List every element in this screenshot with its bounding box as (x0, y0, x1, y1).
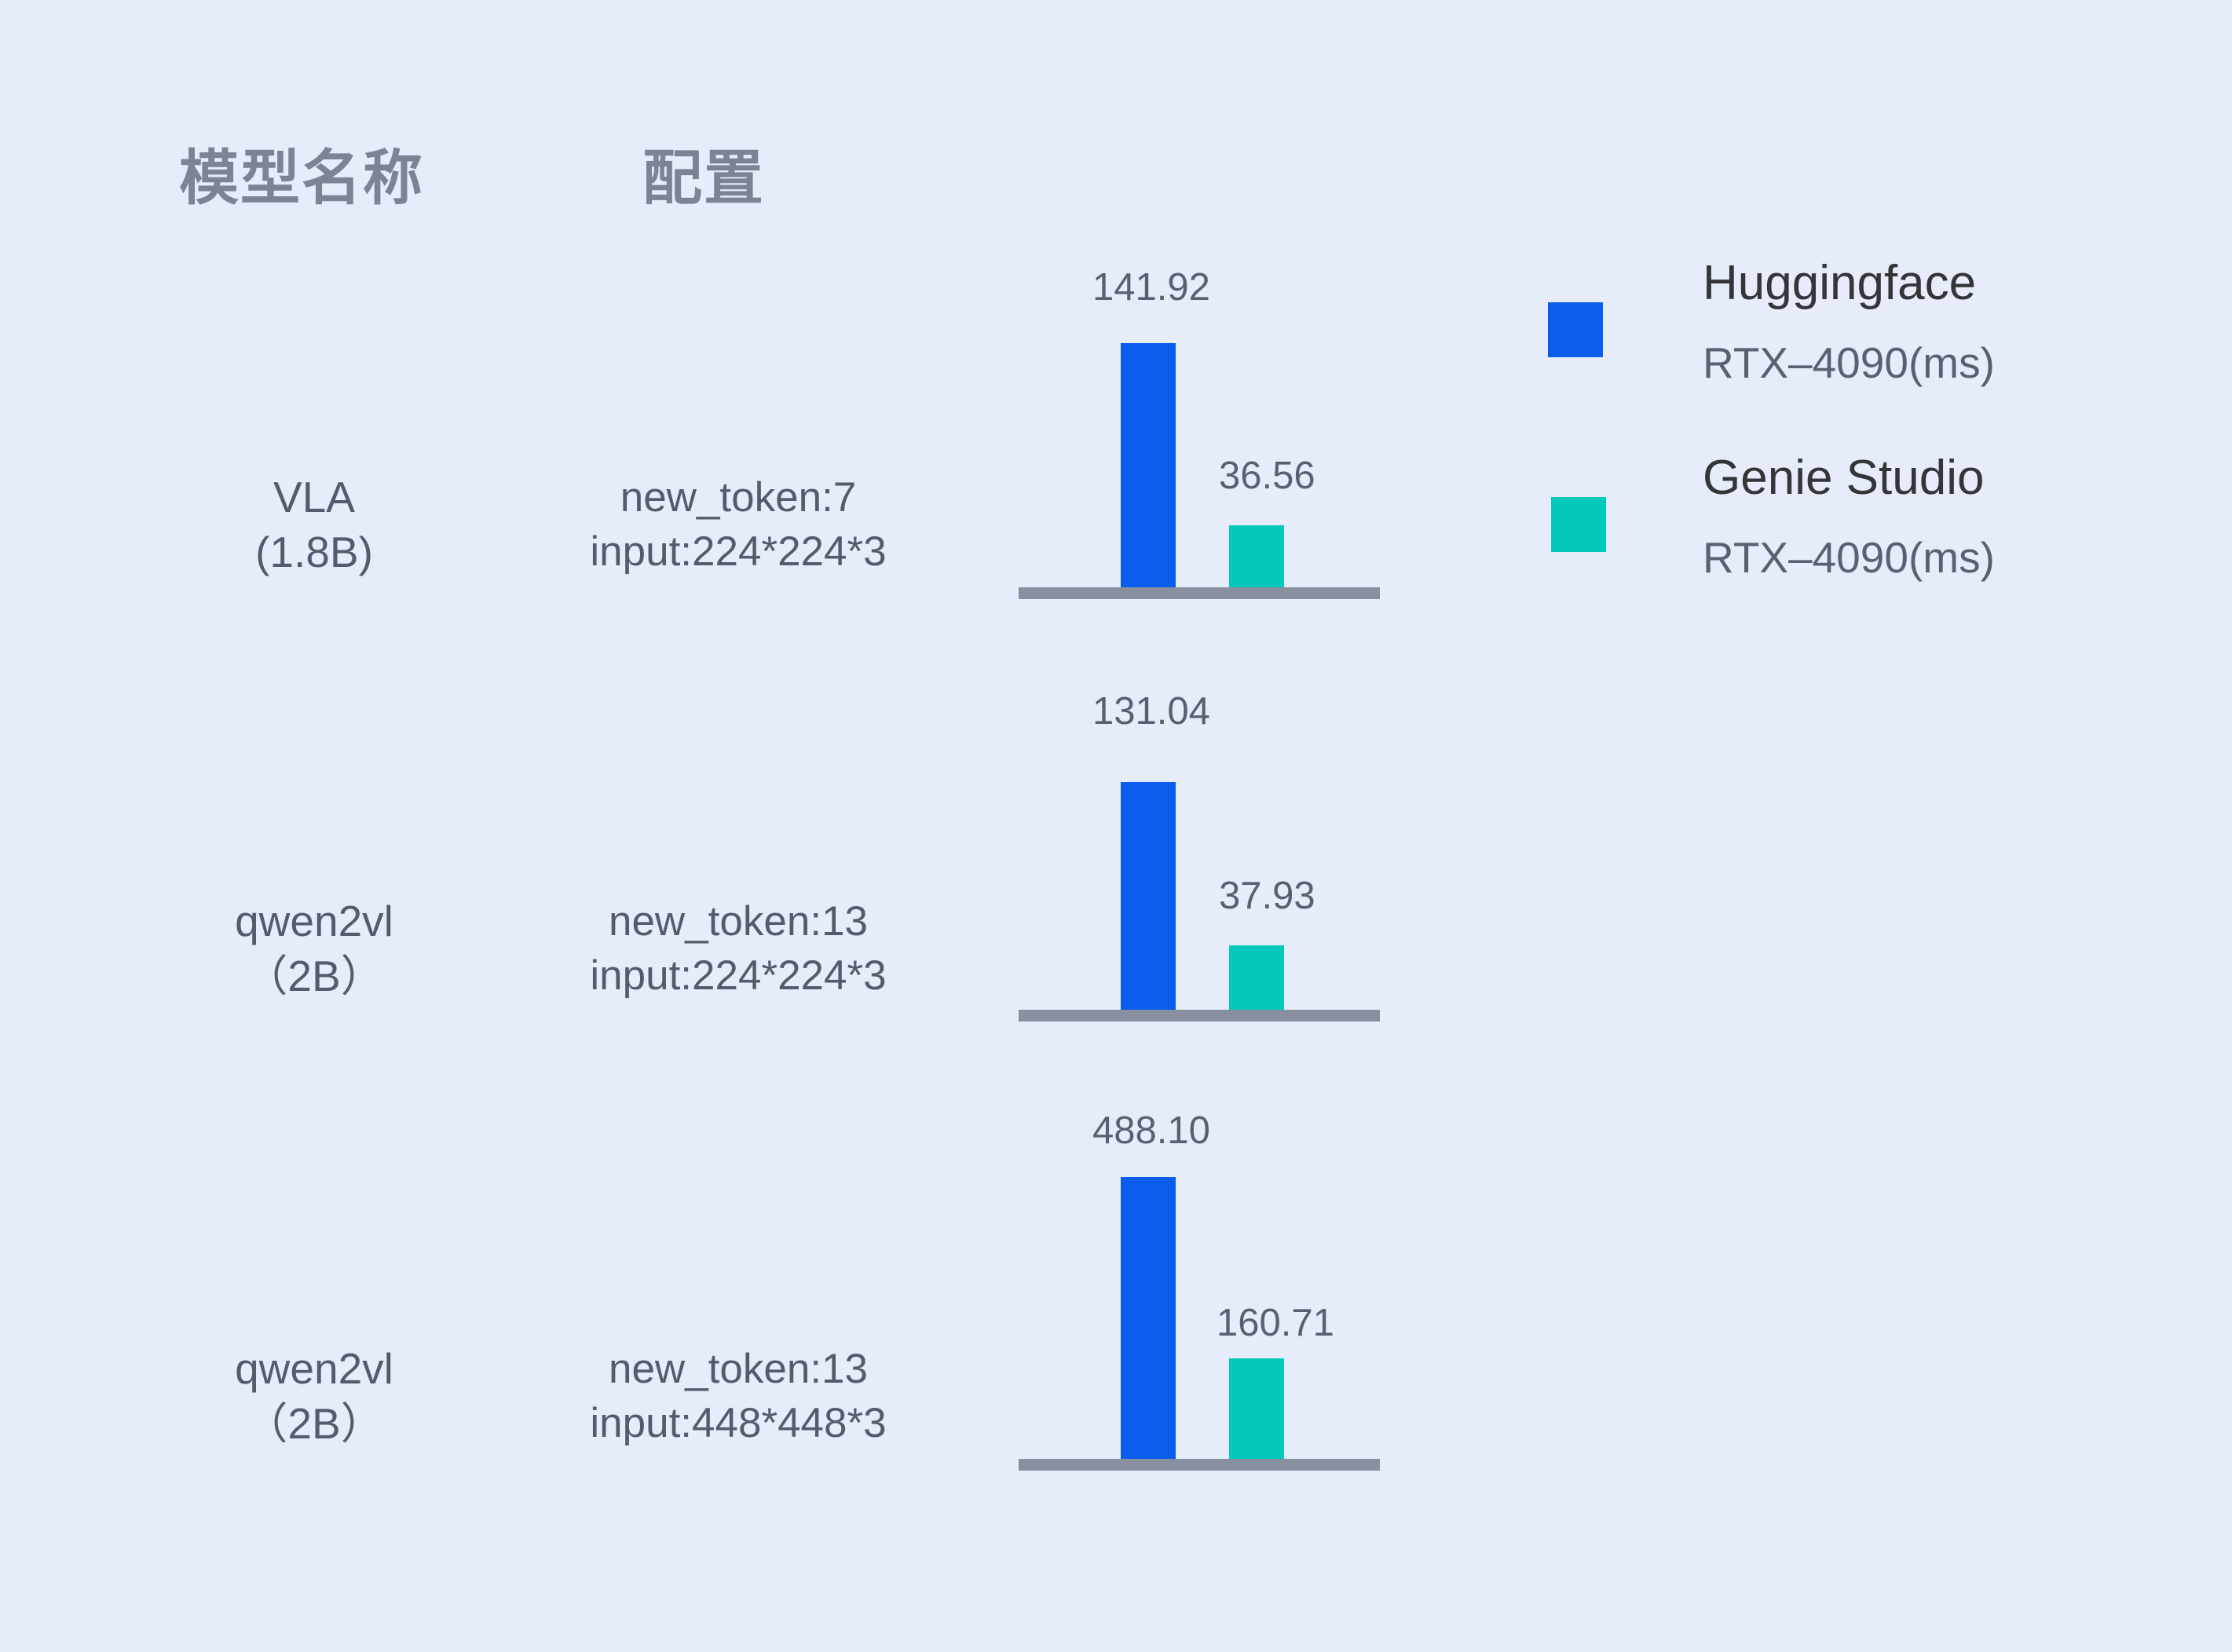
row-1-model-line1: VLA (141, 470, 487, 524)
legend-swatch-huggingface (1548, 302, 1603, 357)
row-3-model-line1: qwen2vl (141, 1341, 487, 1396)
row-3-config-label: new_token:13 input:448*448*3 (495, 1343, 982, 1451)
row-3-axis-line (1019, 1459, 1380, 1471)
row-2-genie-bar (1229, 945, 1284, 1010)
row-1-genie-value-label: 36.56 (1219, 454, 1315, 498)
row-1-config-line1: new_token:7 (495, 471, 982, 525)
row-3-model-label: qwen2vl （2B） (141, 1341, 487, 1452)
row-2-genie-value-label: 37.93 (1219, 874, 1315, 918)
row-1-genie-bar (1229, 525, 1284, 587)
row-2-config-line2: input:224*224*3 (495, 949, 982, 1003)
row-2-axis-line (1019, 1010, 1380, 1022)
column-header-model-name: 模型名称 (179, 130, 424, 216)
row-3-config-line1: new_token:13 (495, 1343, 982, 1397)
row-1-model-line2: (1.8B) (141, 524, 487, 579)
chart-canvas: 模型名称 配置 VLA (1.8B) new_token:7 input:224… (0, 0, 2232, 1652)
legend-title-genie-studio: Genie Studio (1703, 450, 1984, 506)
legend-subtitle-genie-studio: RTX–4090(ms) (1703, 532, 1995, 583)
row-1-config-label: new_token:7 input:224*224*3 (495, 471, 982, 579)
row-1-huggingface-value-label: 141.92 (1092, 265, 1210, 309)
row-3-genie-bar (1229, 1358, 1284, 1459)
row-3-model-line2: （2B） (141, 1396, 487, 1451)
row-2-config-label: new_token:13 input:224*224*3 (495, 895, 982, 1003)
row-3-huggingface-bar (1121, 1177, 1176, 1459)
row-3-config-line2: input:448*448*3 (495, 1397, 982, 1451)
row-3-genie-value-label: 160.71 (1217, 1301, 1334, 1345)
row-2-huggingface-value-label: 131.04 (1092, 689, 1210, 733)
row-2-model-line2: （2B） (141, 948, 487, 1003)
row-1-model-label: VLA (1.8B) (141, 470, 487, 580)
row-3-huggingface-value-label: 488.10 (1092, 1109, 1210, 1153)
legend-swatch-genie-studio (1551, 497, 1606, 552)
row-1-config-line2: input:224*224*3 (495, 525, 982, 579)
row-2-model-line1: qwen2vl (141, 894, 487, 948)
row-2-model-label: qwen2vl （2B） (141, 894, 487, 1004)
column-header-config: 配置 (642, 130, 765, 216)
row-2-config-line1: new_token:13 (495, 895, 982, 949)
row-2-huggingface-bar (1121, 782, 1176, 1010)
row-1-axis-line (1019, 587, 1380, 599)
legend-subtitle-huggingface: RTX–4090(ms) (1703, 338, 1995, 388)
legend-title-huggingface: Huggingface (1703, 255, 1976, 311)
row-1-huggingface-bar (1121, 343, 1176, 587)
